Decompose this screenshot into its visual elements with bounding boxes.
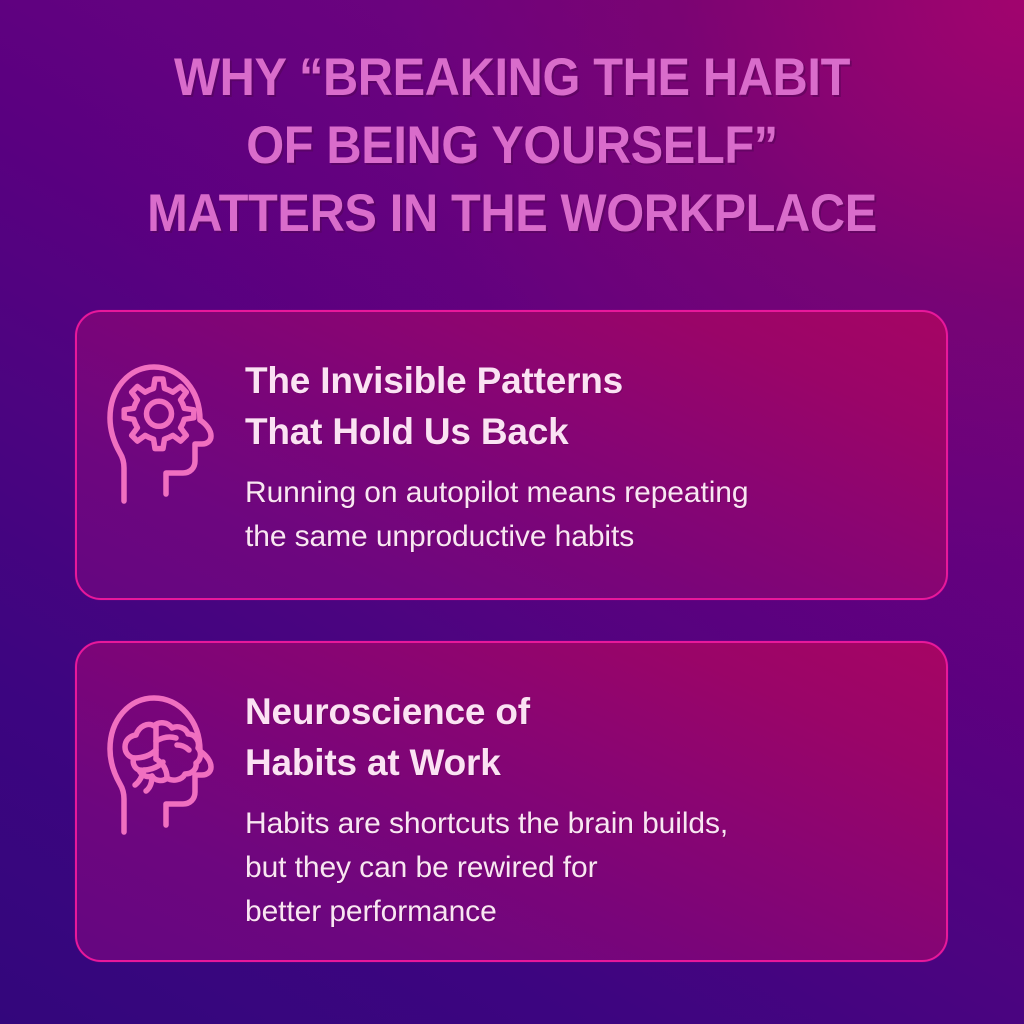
- card-heading-line-2: That Hold Us Back: [245, 406, 918, 457]
- page-title-line-2: OF BEING YOURSELF”: [41, 112, 983, 180]
- card-heading: Neuroscience of Habits at Work: [245, 686, 918, 788]
- head-with-gear-icon: [77, 312, 245, 510]
- card-description-line-1: Habits are shortcuts the brain builds,: [245, 802, 918, 846]
- card-heading: The Invisible Patterns That Hold Us Back: [245, 355, 918, 457]
- card-description-line-2: the same unproductive habits: [245, 515, 918, 559]
- info-card-body: Neuroscience of Habits at Work Habits ar…: [245, 643, 946, 934]
- card-heading-line-2: Habits at Work: [245, 737, 918, 788]
- page-title: WHY “BREAKING THE HABIT OF BEING YOURSEL…: [41, 44, 983, 248]
- card-heading-line-1: Neuroscience of: [245, 686, 918, 737]
- info-card-body: The Invisible Patterns That Hold Us Back…: [245, 312, 946, 559]
- card-description-line-1: Running on autopilot means repeating: [245, 471, 918, 515]
- card-description: Running on autopilot means repeating the…: [245, 471, 918, 559]
- card-description-line-2: but they can be rewired for: [245, 846, 918, 890]
- card-description: Habits are shortcuts the brain builds, b…: [245, 802, 918, 934]
- page-title-line-1: WHY “BREAKING THE HABIT: [41, 44, 983, 112]
- card-heading-line-1: The Invisible Patterns: [245, 355, 918, 406]
- infographic-canvas: WHY “BREAKING THE HABIT OF BEING YOURSEL…: [0, 0, 1024, 1024]
- page-title-line-3: MATTERS IN THE WORKPLACE: [41, 180, 983, 248]
- info-card-neuroscience-of-habits: Neuroscience of Habits at Work Habits ar…: [75, 641, 948, 962]
- head-with-brain-icon: [77, 643, 245, 841]
- info-card-invisible-patterns: The Invisible Patterns That Hold Us Back…: [75, 310, 948, 600]
- card-description-line-3: better performance: [245, 890, 918, 934]
